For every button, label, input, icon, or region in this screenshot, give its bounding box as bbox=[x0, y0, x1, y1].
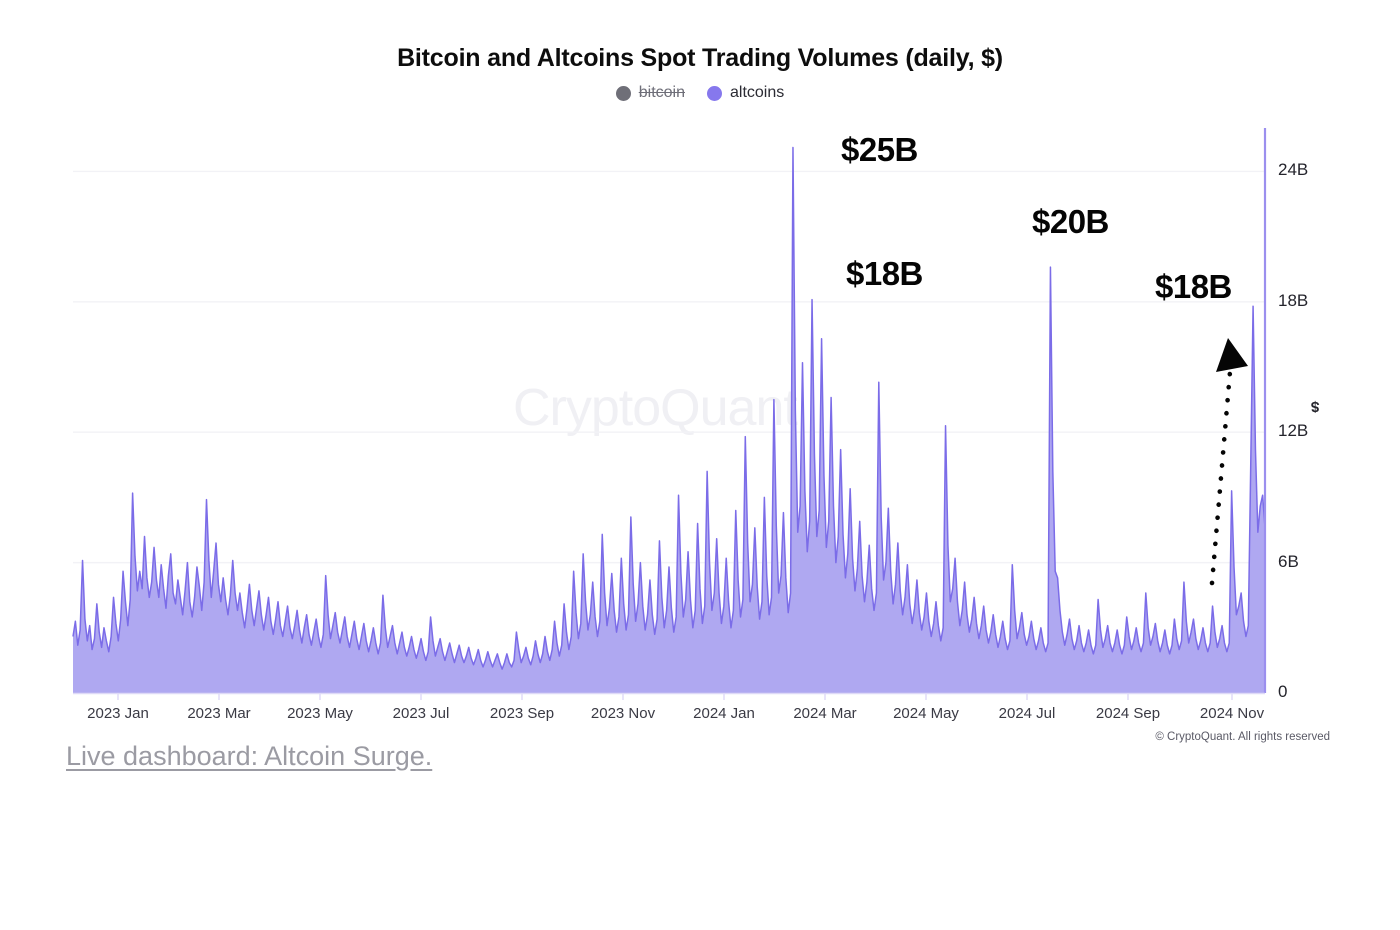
x-axis-tick-label: 2024 Nov bbox=[1200, 705, 1264, 722]
y-axis-tick-label: 12B bbox=[1278, 421, 1308, 441]
x-axis-tick-label: 2023 Mar bbox=[187, 705, 250, 722]
x-axis-tick-label: 2023 Sep bbox=[490, 705, 554, 722]
x-axis-tick-label: 2023 Jan bbox=[87, 705, 149, 722]
chart-page: Bitcoin and Altcoins Spot Trading Volume… bbox=[0, 0, 1400, 930]
y-axis-title: $ bbox=[1311, 398, 1319, 415]
value-annotation: $18B bbox=[846, 255, 923, 293]
x-axis-tick-label: 2023 May bbox=[287, 705, 353, 722]
trend-arrow-annotation bbox=[1212, 338, 1248, 583]
x-axis-tick-label: 2024 Jul bbox=[999, 705, 1056, 722]
value-annotation: $25B bbox=[841, 131, 918, 169]
y-axis-tick-label: 0 bbox=[1278, 682, 1287, 702]
x-axis-tick-label: 2024 Jan bbox=[693, 705, 755, 722]
y-axis-tick-label: 6B bbox=[1278, 552, 1299, 572]
x-axis-tick-label: 2023 Nov bbox=[591, 705, 655, 722]
copyright-notice: © CryptoQuant. All rights reserved bbox=[1155, 731, 1330, 743]
live-dashboard-link[interactable]: Live dashboard: Altcoin Surge. bbox=[66, 741, 432, 772]
x-axis-tick-label: 2023 Jul bbox=[393, 705, 450, 722]
y-axis-tick-label: 18B bbox=[1278, 291, 1308, 311]
y-axis-tick-label: 24B bbox=[1278, 160, 1308, 180]
x-axis-tick-label: 2024 May bbox=[893, 705, 959, 722]
x-axis-tick-label: 2024 Sep bbox=[1096, 705, 1160, 722]
volume-area-chart bbox=[0, 0, 1400, 930]
value-annotation: $20B bbox=[1032, 203, 1109, 241]
x-axis-tick-label: 2024 Mar bbox=[793, 705, 856, 722]
value-annotation: $18B bbox=[1155, 268, 1232, 306]
